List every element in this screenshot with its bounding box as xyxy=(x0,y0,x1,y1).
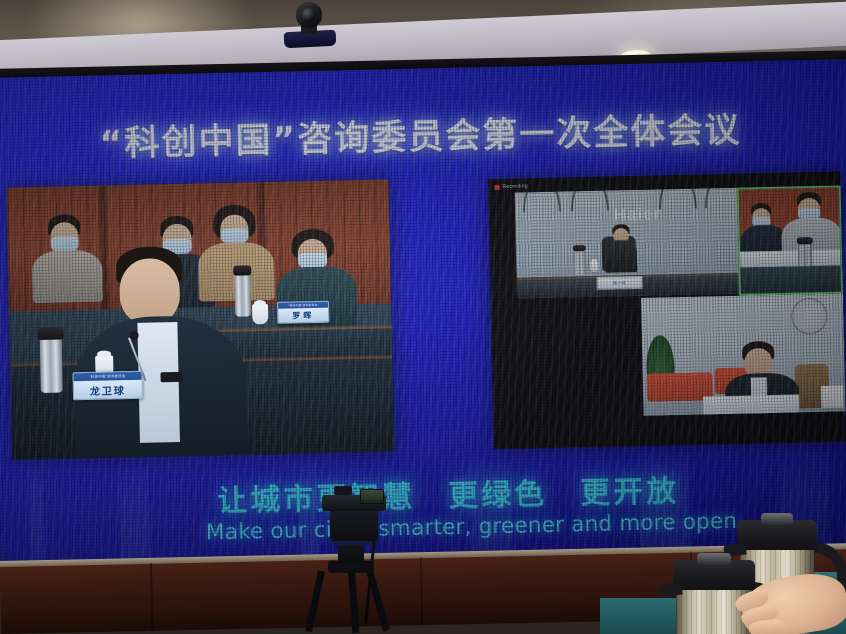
video-tile-main[interactable]: Haier xyxy=(515,188,741,299)
nameplate: “科创中国”咨询委员会 罗晖 xyxy=(277,301,329,324)
led-video-wall: “科创中国”咨询委员会第一次全体会议 xyxy=(0,59,846,578)
room-arc-decor xyxy=(704,188,741,209)
camera-monitor-screen xyxy=(360,489,384,504)
tea-cup xyxy=(252,304,268,324)
room-arc-decor xyxy=(522,188,561,213)
figure-body xyxy=(605,240,638,273)
remote-table xyxy=(740,265,841,295)
room-arc-decor xyxy=(570,188,609,212)
broadcast-camera-tripod xyxy=(300,489,410,634)
stage-base-seam xyxy=(150,563,153,631)
tripod-leg xyxy=(305,570,325,632)
tea-cup xyxy=(590,261,598,272)
camera-top-handle xyxy=(334,486,352,495)
recording-label: Recording xyxy=(502,183,528,190)
nameplate: “科创中国”咨询委员会 龙卫球 xyxy=(72,371,143,401)
thermos-lid xyxy=(573,245,586,251)
video-tile-bottom[interactable] xyxy=(641,293,846,415)
stage-base-seam xyxy=(420,557,423,625)
nameplate-name: 罗晖 xyxy=(292,308,314,322)
recording-indicator: Recording xyxy=(494,183,528,190)
video-tile-active-speaker[interactable] xyxy=(737,185,843,295)
conference-hall-photo: “科创中国”咨询委员会第一次全体会议 xyxy=(0,0,846,634)
page-title: “科创中国”咨询委员会第一次全体会议 xyxy=(99,99,840,166)
figure-head xyxy=(119,258,180,325)
thermos-knob xyxy=(697,553,730,565)
ptz-camera-lens-icon xyxy=(302,8,315,22)
video-conference-panel: Recording Haier xyxy=(488,171,846,449)
room-wall-logo: Haier xyxy=(613,204,661,225)
thermos-knob xyxy=(761,513,794,525)
thermos-flask xyxy=(574,249,586,275)
room-arc-decor xyxy=(658,188,697,210)
led-wall-surface: “科创中国”咨询委员会第一次全体会议 xyxy=(0,59,846,578)
thermos-lid xyxy=(233,265,252,275)
main-speaker-figure xyxy=(86,245,230,448)
remote-document xyxy=(821,385,843,407)
thermos-flask xyxy=(40,336,63,392)
thermos-lid xyxy=(38,328,64,341)
recording-dot-icon xyxy=(494,184,499,189)
broadcast-feed: “科创中国”咨询委员会 龙卫球 “科创中国”咨询委员会 罗晖 xyxy=(6,179,394,459)
microphone-base xyxy=(160,372,182,382)
thermos-lid xyxy=(797,237,813,245)
remote-attendee-figure xyxy=(605,224,636,271)
remote-desk-papers xyxy=(703,394,799,414)
ptz-camera xyxy=(282,2,338,50)
camera-body xyxy=(330,507,378,541)
remote-nameplate: 周小兵 xyxy=(596,276,642,290)
thermos-flask xyxy=(234,272,251,316)
figure-shirt xyxy=(137,322,180,443)
tripod-leg xyxy=(348,571,359,633)
nameplate-name: 龙卫球 xyxy=(90,380,126,398)
